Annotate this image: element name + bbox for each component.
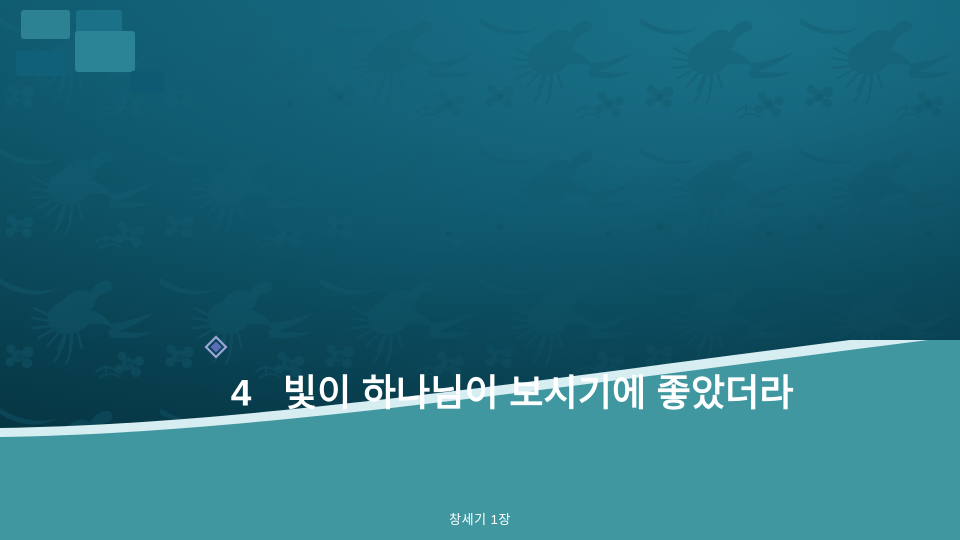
deco-square-4 (75, 31, 135, 72)
footer-label: 창세기 1장 (449, 509, 511, 528)
body-line-1-text: 4 빛이 하나님이 보시기에 좋았더라 (231, 373, 794, 414)
slide-body-text: 4 빛이 하나님이 보시기에 좋았더라 하나님이 빛과 어둠을 나누사 (57, 128, 917, 540)
deco-square-5 (130, 71, 164, 93)
body-line-1-container: 4 빛이 하나님이 보시기에 좋았더라 (57, 226, 917, 470)
decorative-squares-group (0, 0, 180, 120)
slide-footer: 창세기 1장 (0, 496, 960, 540)
diamond-bullet-icon (120, 274, 228, 420)
presentation-slide: 4 빛이 하나님이 보시기에 좋았더라 하나님이 빛과 어둠을 나누사 창세기 … (0, 0, 960, 540)
deco-square-1 (21, 10, 70, 39)
deco-square-3 (16, 51, 65, 76)
